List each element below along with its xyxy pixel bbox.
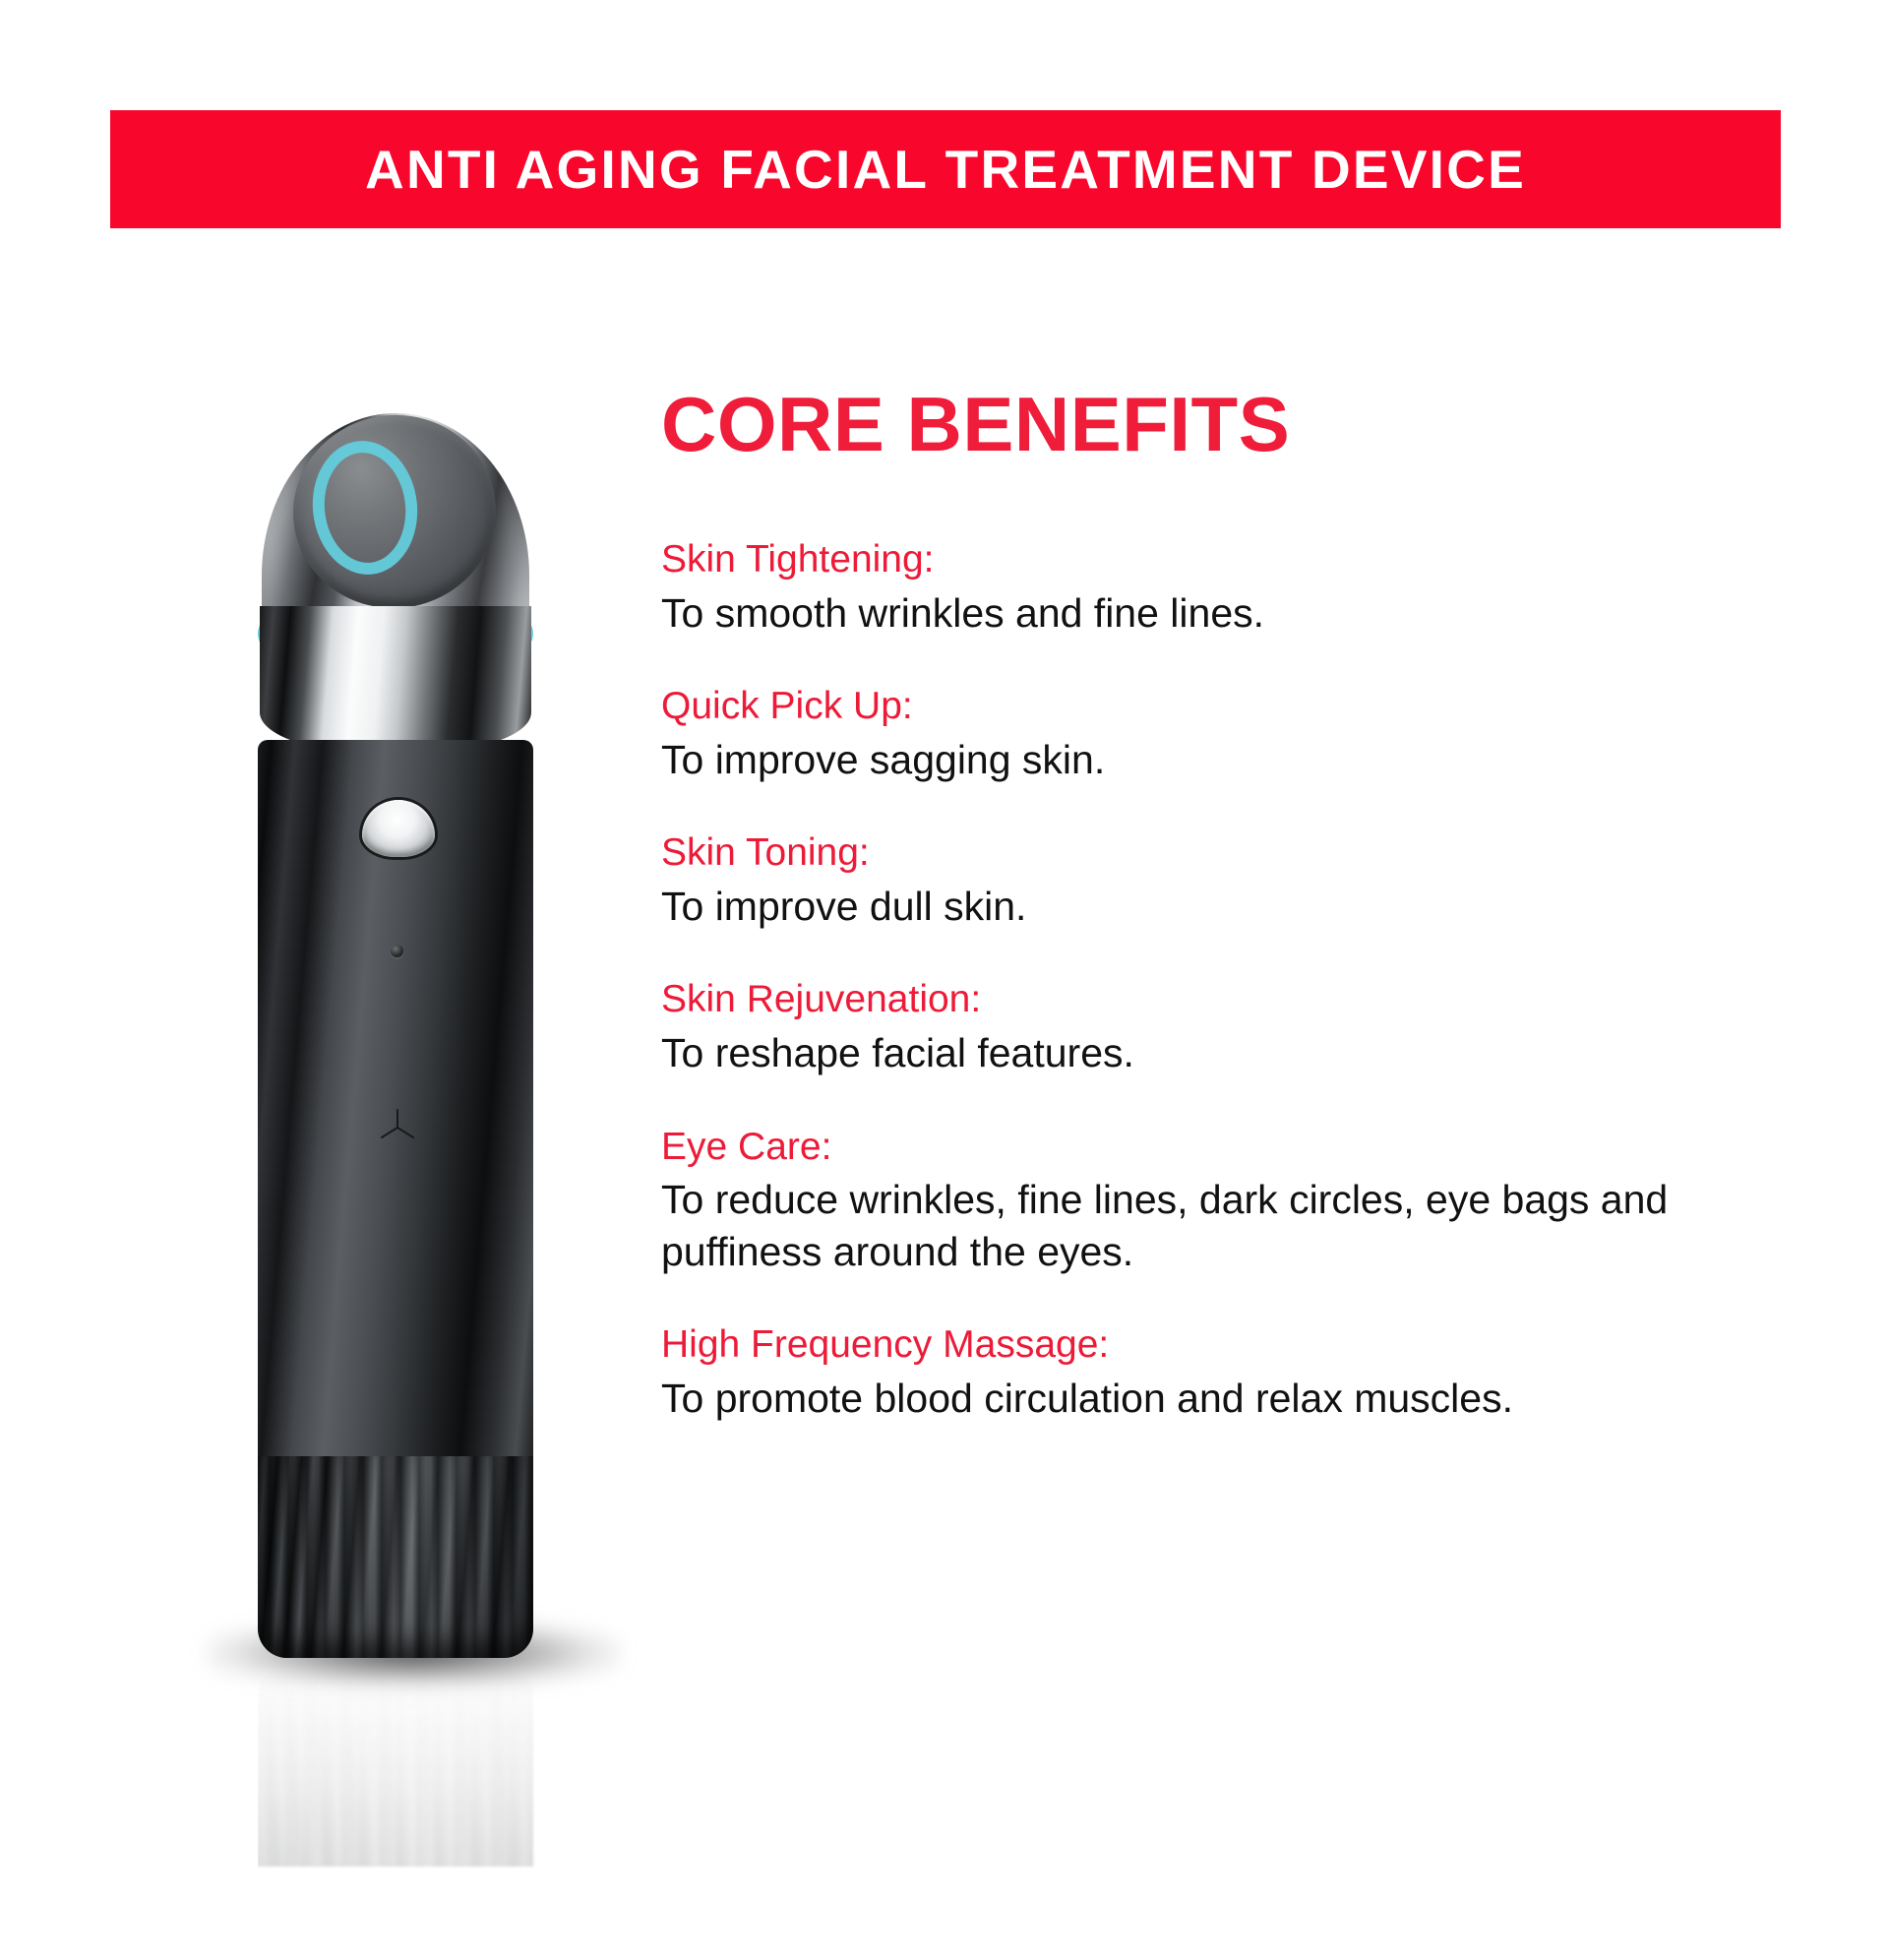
benefit-item-skin-tightening: Skin Tightening: To smooth wrinkles and …: [661, 535, 1753, 639]
device-led-indicator-icon: [391, 945, 403, 957]
device-reflection-ribs: [258, 1665, 533, 1867]
device-reflection: [258, 1665, 543, 1960]
benefit-description: To smooth wrinkles and fine lines.: [661, 587, 1753, 639]
product-image: [197, 394, 630, 1771]
banner-title: ANTI AGING FACIAL TREATMENT DEVICE: [365, 143, 1526, 197]
benefit-item-quick-pick-up: Quick Pick Up: To improve sagging skin.: [661, 682, 1753, 785]
benefit-item-skin-toning: Skin Toning: To improve dull skin.: [661, 828, 1753, 932]
benefit-description: To reshape facial features.: [661, 1027, 1753, 1078]
page-title: CORE BENEFITS: [661, 386, 1753, 462]
header-banner: ANTI AGING FACIAL TREATMENT DEVICE: [110, 110, 1781, 228]
benefit-item-eye-care: Eye Care: To reduce wrinkles, fine lines…: [661, 1123, 1753, 1278]
benefit-title: Eye Care:: [661, 1123, 1753, 1173]
benefits-panel: CORE BENEFITS Skin Tightening: To smooth…: [661, 386, 1753, 1424]
benefit-description: To improve dull skin.: [661, 881, 1753, 932]
benefit-item-skin-rejuvenation: Skin Rejuvenation: To reshape facial fea…: [661, 975, 1753, 1078]
three-prong-logo-icon: [370, 1102, 425, 1149]
benefit-description: To promote blood circulation and relax m…: [661, 1373, 1753, 1424]
facial-treatment-device: [254, 413, 539, 1658]
benefit-item-high-frequency-massage: High Frequency Massage: To promote blood…: [661, 1320, 1753, 1424]
benefit-description: To reduce wrinkles, fine lines, dark cir…: [661, 1174, 1753, 1277]
benefit-title: Skin Toning:: [661, 828, 1753, 879]
benefit-title: Quick Pick Up:: [661, 682, 1753, 732]
benefit-title: High Frequency Massage:: [661, 1320, 1753, 1371]
benefit-title: Skin Rejuvenation:: [661, 975, 1753, 1025]
benefit-title: Skin Tightening:: [661, 535, 1753, 585]
benefit-description: To improve sagging skin.: [661, 734, 1753, 785]
device-ribbed-base: [258, 1456, 533, 1658]
device-chrome-mid-band: [260, 606, 531, 754]
